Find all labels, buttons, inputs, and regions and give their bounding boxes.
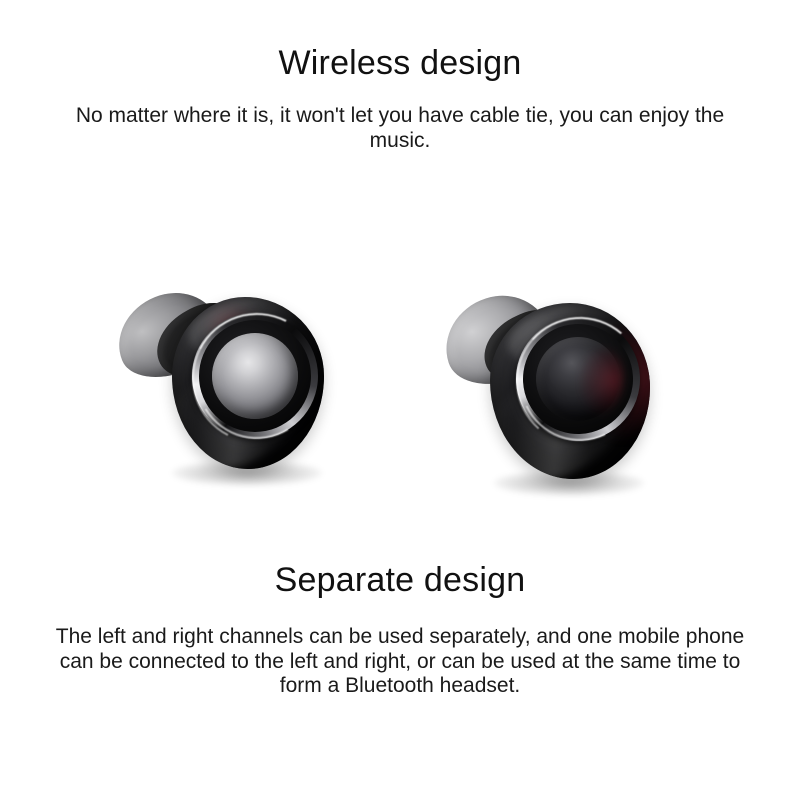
section-body-wireless-design: No matter where it is, it won't let you … bbox=[60, 82, 740, 153]
section-wireless-design: Wireless design No matter where it is, i… bbox=[0, 0, 800, 153]
section-heading-separate-design: Separate design bbox=[0, 562, 800, 599]
left-earbud bbox=[110, 273, 340, 488]
product-image-earbuds bbox=[0, 255, 800, 505]
product-detail-page: Wireless design No matter where it is, i… bbox=[0, 0, 800, 800]
section-separate-design: Separate design The left and right chann… bbox=[0, 562, 800, 698]
section-heading-wireless-design: Wireless design bbox=[0, 0, 800, 82]
section-body-separate-design: The left and right channels can be used … bbox=[40, 599, 760, 698]
right-earbud bbox=[432, 283, 662, 498]
